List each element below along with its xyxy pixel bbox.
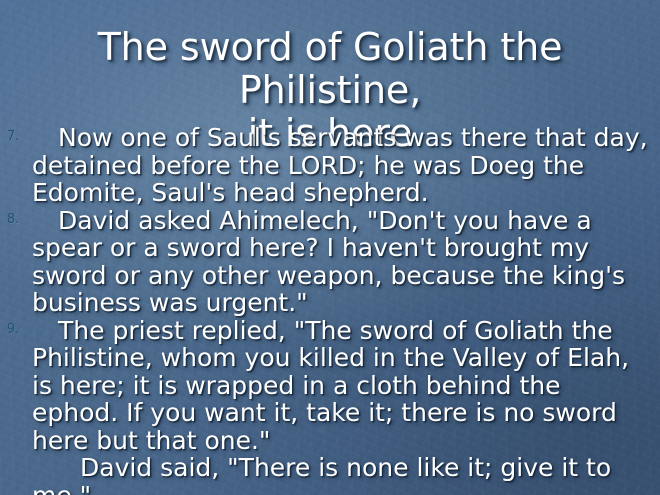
list-item: 9. The priest replied, "The sword of Gol…: [0, 317, 660, 455]
list-item-marker: 8.: [7, 213, 29, 226]
list-item-marker: 7.: [7, 130, 29, 143]
list-item-text: David said, "There is none like it; give…: [32, 454, 652, 495]
list-item-marker: 9.: [7, 323, 29, 336]
slide-content: The sword of Goliath the Philistine, it …: [0, 0, 660, 495]
presentation-slide: The sword of Goliath the Philistine, it …: [0, 0, 660, 495]
list-item: 7. Now one of Saul's servants was there …: [0, 124, 660, 207]
list-item: 8. David asked Ahimelech, "Don't you hav…: [0, 207, 660, 317]
list-item-text: David asked Ahimelech, "Don't you have a…: [32, 207, 652, 317]
list-item-text: The priest replied, "The sword of Goliat…: [32, 317, 652, 455]
list-item: David said, "There is none like it; give…: [0, 454, 660, 495]
list-item-text: Now one of Saul's servants was there tha…: [32, 124, 652, 207]
slide-body-list: 7. Now one of Saul's servants was there …: [0, 124, 660, 495]
